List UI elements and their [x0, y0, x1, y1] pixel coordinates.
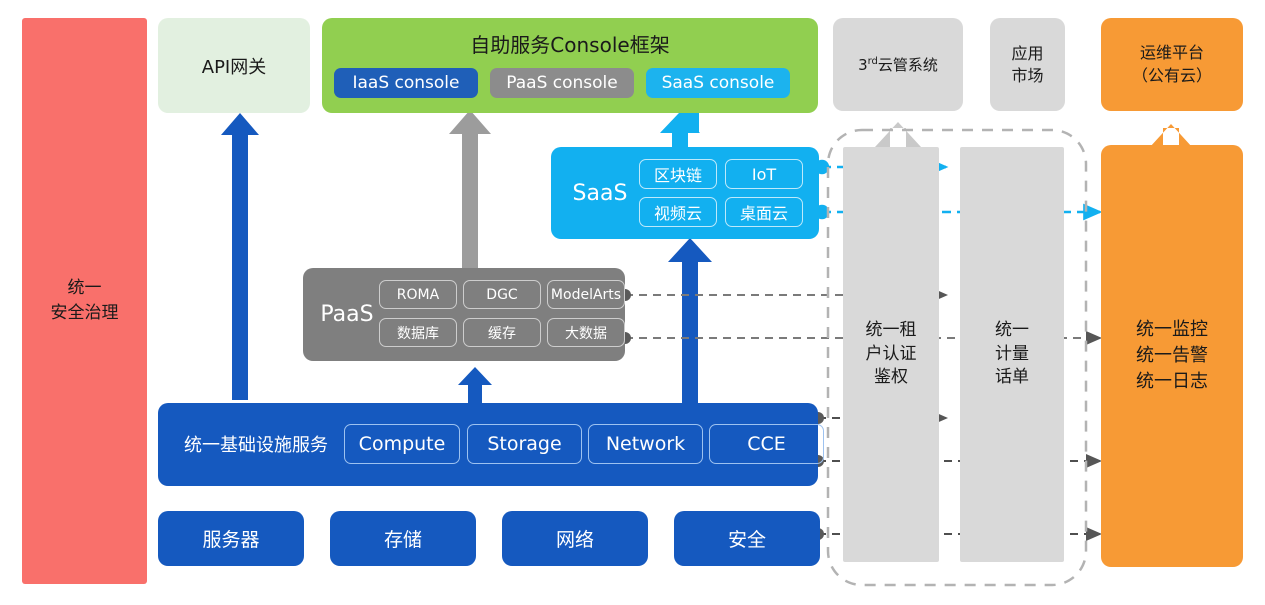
unified-metering-billing-column: 统一 计量 话单: [960, 147, 1064, 562]
saas-console-label: SaaS console: [662, 73, 775, 93]
ops-right-line-3: 统一日志: [1136, 369, 1208, 395]
unified-security-governance-panel: 统一 安全治理: [22, 18, 147, 584]
paas-service-roma[interactable]: ROMA: [379, 280, 457, 309]
paas-console-label: PaaS console: [506, 73, 617, 93]
ops-platform-top-line-2: （公有云）: [1132, 65, 1212, 87]
auth-line-2: 户认证: [866, 343, 917, 367]
ops-platform-right-column: 统一监控 统一告警 统一日志: [1101, 145, 1243, 567]
saas-service-label-1: IoT: [752, 165, 776, 184]
third-party-sup: rd: [868, 56, 878, 67]
app-market-line-1: 应用: [1011, 43, 1043, 65]
saas-service-iot[interactable]: IoT: [725, 159, 803, 189]
paas-layer-label: PaaS: [311, 296, 383, 332]
iaas-service-label-3: CCE: [747, 433, 786, 455]
arrow-to-ops-platform-top: [1150, 124, 1192, 147]
architecture-diagram: 统一 安全治理 API网关 自助服务Console框架 IaaS console…: [0, 0, 1265, 605]
arrow-to-third-party-system: [875, 122, 921, 147]
metering-line-2: 计量: [995, 343, 1029, 367]
hardware-box-storage[interactable]: 存储: [330, 511, 476, 566]
saas-console-chip[interactable]: SaaS console: [646, 68, 790, 98]
unified-tenant-auth-column: 统一租 户认证 鉴权: [843, 147, 939, 562]
saas-service-desktop-cloud[interactable]: 桌面云: [725, 197, 803, 227]
console-frame-title: 自助服务Console框架: [322, 26, 818, 60]
iaas-layer-label: 统一基础设施服务: [168, 425, 344, 463]
saas-service-blockchain[interactable]: 区块链: [639, 159, 717, 189]
paas-console-chip[interactable]: PaaS console: [490, 68, 634, 98]
auth-line-1: 统一租: [866, 319, 917, 343]
iaas-service-network[interactable]: Network: [588, 424, 703, 464]
iaas-service-cce[interactable]: CCE: [709, 424, 824, 464]
metering-line-1: 统一: [995, 319, 1029, 343]
hardware-label-0: 服务器: [202, 525, 259, 552]
ops-platform-public-cloud-box[interactable]: 运维平台 （公有云）: [1101, 18, 1243, 111]
saas-service-label-0: 区块链: [654, 162, 702, 186]
api-gateway-label: API网关: [202, 53, 266, 79]
iaas-service-storage[interactable]: Storage: [467, 424, 582, 464]
arrow-iaas-to-api-gateway: [221, 113, 259, 400]
iaas-service-label-1: Storage: [487, 433, 561, 455]
hardware-box-server[interactable]: 服务器: [158, 511, 304, 566]
third-party-label: 3rd云管系统: [858, 54, 938, 75]
saas-service-label-2: 视频云: [654, 200, 702, 224]
paas-service-label-5: 大数据: [565, 323, 607, 343]
ops-platform-top-line-1: 运维平台: [1140, 42, 1204, 64]
paas-service-label-2: ModelArts: [551, 287, 621, 303]
saas-layer-box: SaaS 区块链 IoT 视频云 桌面云: [551, 147, 819, 239]
paas-service-database[interactable]: 数据库: [379, 318, 457, 347]
arrow-iaas-to-saas: [668, 238, 712, 405]
iaas-console-chip[interactable]: IaaS console: [334, 68, 478, 98]
paas-service-bigdata[interactable]: 大数据: [547, 318, 625, 347]
third-party-prefix: 3: [858, 56, 868, 74]
paas-service-label-0: ROMA: [397, 287, 439, 303]
hardware-label-3: 安全: [728, 525, 766, 552]
security-line-1: 统一: [68, 276, 102, 301]
third-party-cloud-mgmt-box[interactable]: 3rd云管系统: [833, 18, 963, 111]
auth-line-3: 鉴权: [874, 366, 908, 390]
hardware-box-network[interactable]: 网络: [502, 511, 648, 566]
hardware-box-security[interactable]: 安全: [674, 511, 820, 566]
security-line-2: 安全治理: [51, 301, 119, 326]
paas-service-label-4: 缓存: [488, 323, 516, 343]
iaas-service-label-2: Network: [606, 433, 685, 455]
arrow-iaas-to-paas: [458, 367, 492, 407]
ops-right-line-1: 统一监控: [1136, 317, 1208, 343]
iaas-service-compute[interactable]: Compute: [344, 424, 460, 464]
app-market-box[interactable]: 应用 市场: [990, 18, 1065, 111]
iaas-service-label-0: Compute: [359, 433, 446, 455]
iaas-console-label: IaaS console: [352, 73, 459, 93]
metering-line-3: 话单: [995, 366, 1029, 390]
arrow-paas-to-console-frame: [449, 110, 491, 268]
third-party-rest: 云管系统: [878, 56, 938, 74]
iaas-layer-box: 统一基础设施服务 Compute Storage Network CCE: [158, 403, 818, 486]
paas-service-cache[interactable]: 缓存: [463, 318, 541, 347]
paas-service-dgc[interactable]: DGC: [463, 280, 541, 309]
paas-layer-box: PaaS ROMA DGC ModelArts 数据库 缓存 大数据: [303, 268, 625, 361]
saas-service-video-cloud[interactable]: 视频云: [639, 197, 717, 227]
app-market-line-2: 市场: [1011, 65, 1043, 87]
hardware-label-1: 存储: [384, 525, 422, 552]
hardware-label-2: 网络: [556, 525, 594, 552]
console-frame-box: 自助服务Console框架 IaaS console PaaS console …: [322, 18, 818, 113]
api-gateway-box[interactable]: API网关: [158, 18, 310, 113]
paas-service-modelarts[interactable]: ModelArts: [547, 280, 625, 309]
arrow-saas-to-saas-console: [660, 112, 700, 150]
paas-service-label-1: DGC: [486, 287, 517, 303]
paas-service-label-3: 数据库: [397, 323, 439, 343]
saas-service-label-3: 桌面云: [740, 200, 788, 224]
saas-layer-label: SaaS: [561, 175, 639, 211]
ops-right-line-2: 统一告警: [1136, 343, 1208, 369]
